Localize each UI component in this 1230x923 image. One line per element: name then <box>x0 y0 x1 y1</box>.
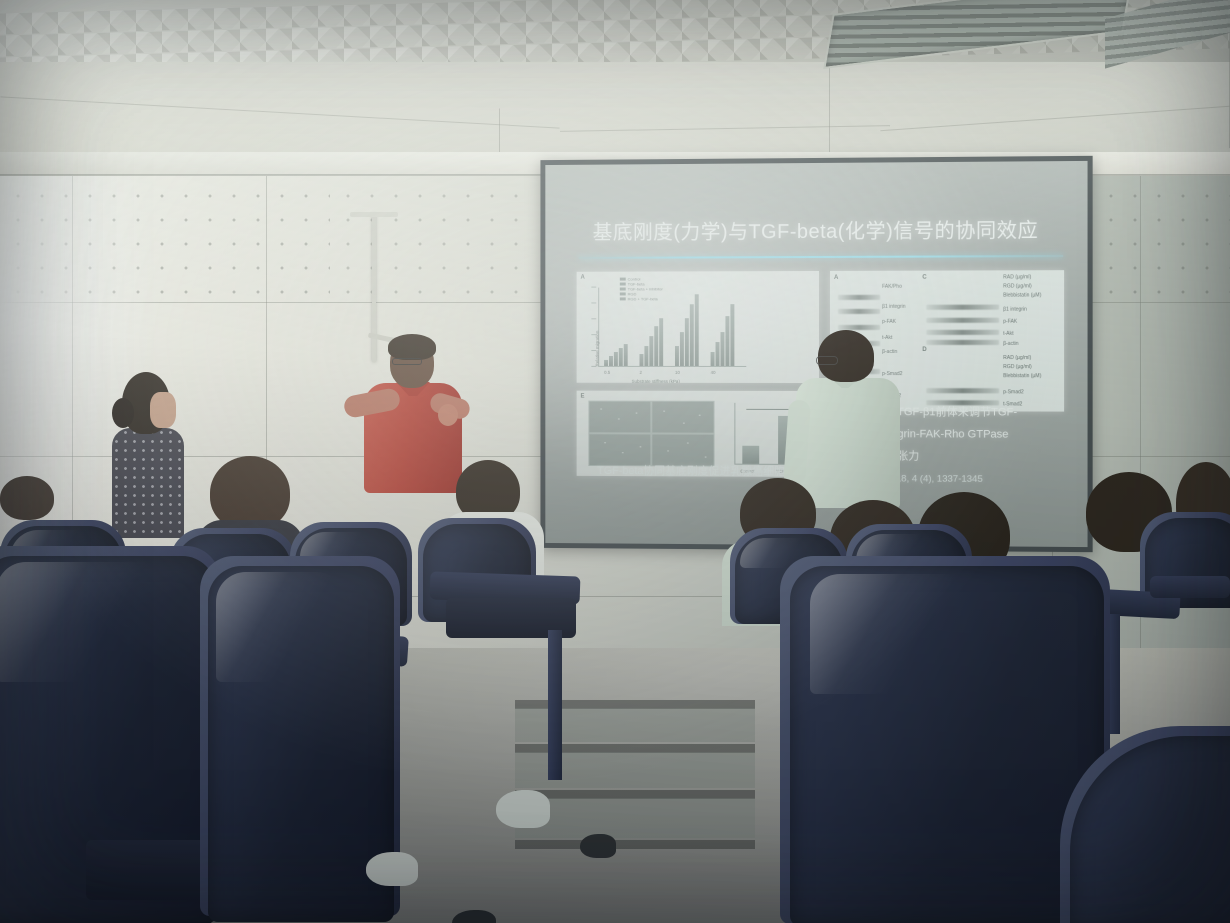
panel-label-a2: A <box>834 275 838 281</box>
wall-rail-bracket-top <box>350 212 398 217</box>
blot-row-label: β1 integrin <box>1003 307 1027 313</box>
panel-label-e: E <box>581 394 585 400</box>
lecture-hall-photo: 基底刚度(力学)与TGF-beta(化学)信号的协同效应 A Control T… <box>0 0 1230 923</box>
blot-col-label: RGD (µg/ml) <box>1003 283 1032 289</box>
blot-row-label: t-Akt <box>1003 331 1013 337</box>
figure-panel-a: A Control TGF-beta TGF-beta + inhibitor … <box>577 271 819 383</box>
blot-row-label: p-FAK <box>1003 319 1017 325</box>
blot-left-label: β1 integrin <box>882 304 906 310</box>
blot-col-label: RGD (µg/ml) <box>1003 364 1032 370</box>
acoustic-perforated-panel <box>330 176 530 304</box>
blot-left-label: t-Akt <box>882 335 892 341</box>
blot-left-label: FAK/Pho <box>882 284 902 290</box>
chart-a-tick: 40 <box>711 370 716 375</box>
micrograph-grid <box>588 401 714 467</box>
seat-armrest <box>1150 576 1230 598</box>
shoe <box>580 834 616 858</box>
blot-left-label: p-Smad2 <box>882 371 902 377</box>
blot-col-label: RAD (µg/ml) <box>1003 355 1031 361</box>
seated-attendee-mid-left <box>210 456 290 530</box>
blot-left-label: β-actin <box>882 349 897 355</box>
blot-row-label: β-actin <box>1003 341 1018 347</box>
ceiling <box>0 0 1230 178</box>
chart-a-ylabel: Relative migration <box>595 331 600 367</box>
shoe <box>496 790 550 828</box>
blot-col-label: Blebbistatin (µM) <box>1003 373 1041 379</box>
panel-label-d: D <box>922 347 926 353</box>
blot-col-label: Blebbistatin (µM) <box>1003 292 1041 298</box>
slide-title: 基底刚度(力学)与TGF-beta(化学)信号的协同效应 <box>545 213 1087 245</box>
blot-col-label: RAD (µg/ml) <box>1003 274 1031 280</box>
shoe <box>366 852 418 886</box>
panel-label-a: A <box>581 275 585 281</box>
chart-a-tick: 0.5 <box>604 370 610 375</box>
seat-leg <box>548 630 562 780</box>
chart-a-tick: 2 <box>639 370 641 375</box>
chart-a-plot: Relative migration Substrate stiffness (… <box>598 287 746 367</box>
blot-row-label: p-Smad2 <box>1003 389 1024 395</box>
blot-left-label: p-FAK <box>882 319 896 325</box>
chart-a-tick: 10 <box>675 370 680 375</box>
wall-rail-bracket <box>372 214 376 362</box>
panel-label-c: C <box>922 275 926 281</box>
chart-a-xlabel: Substrate stiffness (kPa) <box>632 379 680 383</box>
slide-divider-rule <box>579 255 1063 259</box>
seated-attendee-front-left <box>0 476 54 520</box>
